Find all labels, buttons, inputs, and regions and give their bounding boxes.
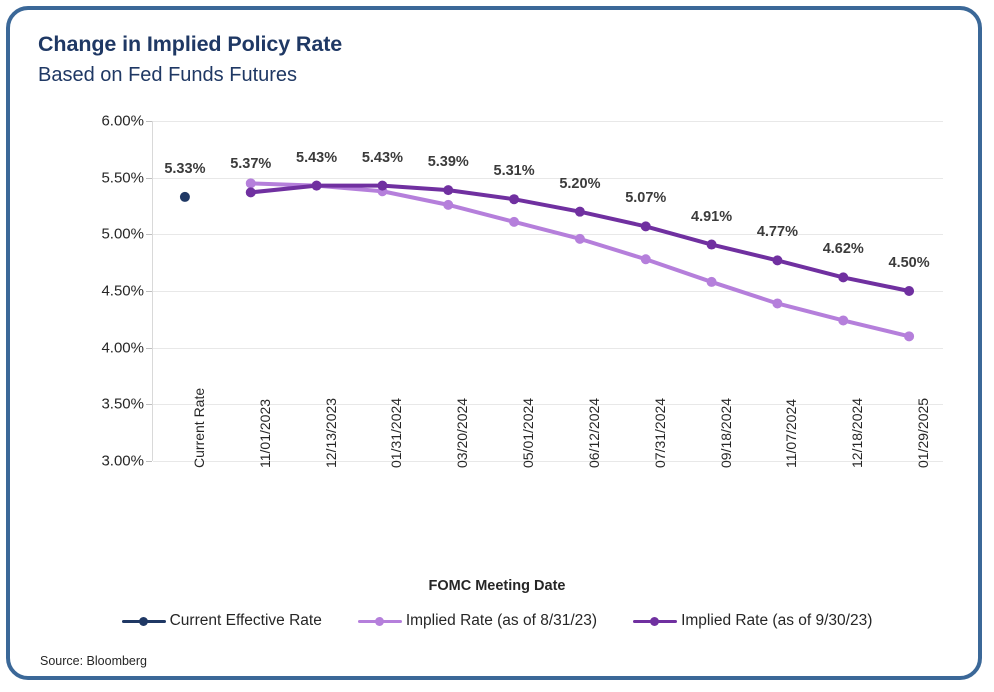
series-marker	[509, 194, 519, 204]
legend-item[interactable]: Implied Rate (as of 8/31/23)	[358, 612, 597, 630]
series-marker	[575, 234, 585, 244]
series-line	[251, 183, 909, 336]
series-marker	[904, 286, 914, 296]
series-marker	[246, 187, 256, 197]
legend-item[interactable]: Current Effective Rate	[122, 612, 322, 630]
legend-label: Current Effective Rate	[170, 612, 322, 630]
legend-swatch	[633, 614, 677, 628]
series-marker	[707, 277, 717, 287]
series-marker	[641, 221, 651, 231]
series-marker	[575, 207, 585, 217]
series-marker	[641, 254, 651, 264]
series-marker	[443, 185, 453, 195]
series-marker	[443, 200, 453, 210]
series-marker	[838, 315, 848, 325]
legend-label: Implied Rate (as of 9/30/23)	[681, 612, 872, 630]
chart-legend: Current Effective RateImplied Rate (as o…	[0, 612, 994, 630]
series-marker	[838, 272, 848, 282]
series-marker	[772, 255, 782, 265]
series-marker	[772, 298, 782, 308]
series-marker	[904, 331, 914, 341]
x-axis-title: FOMC Meeting Date	[0, 578, 994, 594]
series-marker	[246, 178, 256, 188]
legend-label: Implied Rate (as of 8/31/23)	[406, 612, 597, 630]
legend-item[interactable]: Implied Rate (as of 9/30/23)	[633, 612, 872, 630]
legend-swatch	[122, 614, 166, 628]
line-chart: Implied Policy Rate 6.00%5.50%5.00%4.50%…	[0, 0, 994, 692]
series-marker	[312, 181, 322, 191]
series-marker	[180, 192, 190, 202]
series-marker	[509, 217, 519, 227]
series-marker	[707, 240, 717, 250]
legend-swatch	[358, 614, 402, 628]
series-marker	[377, 181, 387, 191]
